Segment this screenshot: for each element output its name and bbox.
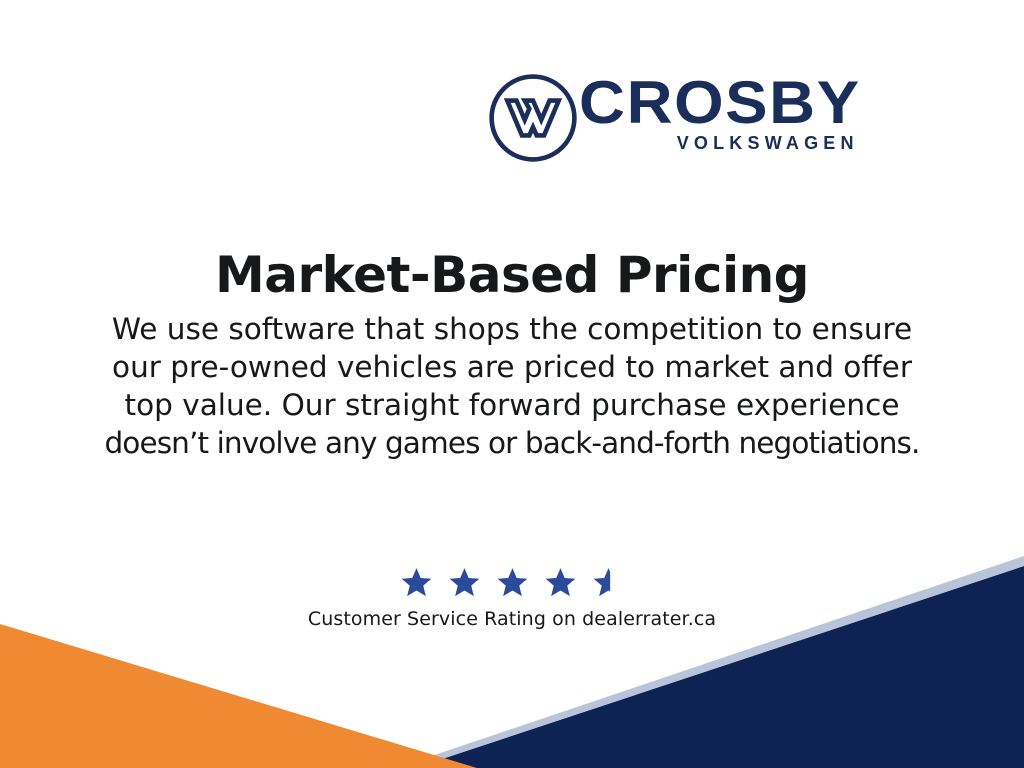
rating-caption: Customer Service Rating on dealerrater.c… [0,608,1024,630]
body-line: our pre-owned vehicles are priced to mar… [92,348,932,386]
brand-wordmark: CROSBY [579,74,861,131]
body-line: top value. Our straight forward purchase… [92,386,932,424]
body-line: We use software that shops the competiti… [92,310,932,348]
star-filled-icon [400,566,433,599]
brand-logo-lockup: CROSBY VOLKSWAGEN [487,72,917,168]
star-filled-icon [544,566,577,599]
orange-corner-triangle [0,624,477,768]
star-half-icon [592,566,625,599]
slide-headline: Market-Based Pricing [0,246,1024,304]
customer-rating-block: Customer Service Rating on dealerrater.c… [0,562,1024,630]
slide-body-copy: We use software that shops the competiti… [92,310,932,462]
presentation-slide: CROSBY VOLKSWAGEN Market-Based Pricing W… [0,0,1024,768]
body-line: doesn’t involve any games or back-and-fo… [92,424,932,462]
brand-subwordmark: VOLKSWAGEN [677,133,859,154]
star-filled-icon [496,566,529,599]
brand-wordmark-group: CROSBY VOLKSWAGEN [595,72,861,154]
star-filled-icon [448,566,481,599]
star-rating [0,562,1024,602]
volkswagen-logo-icon [487,72,579,164]
